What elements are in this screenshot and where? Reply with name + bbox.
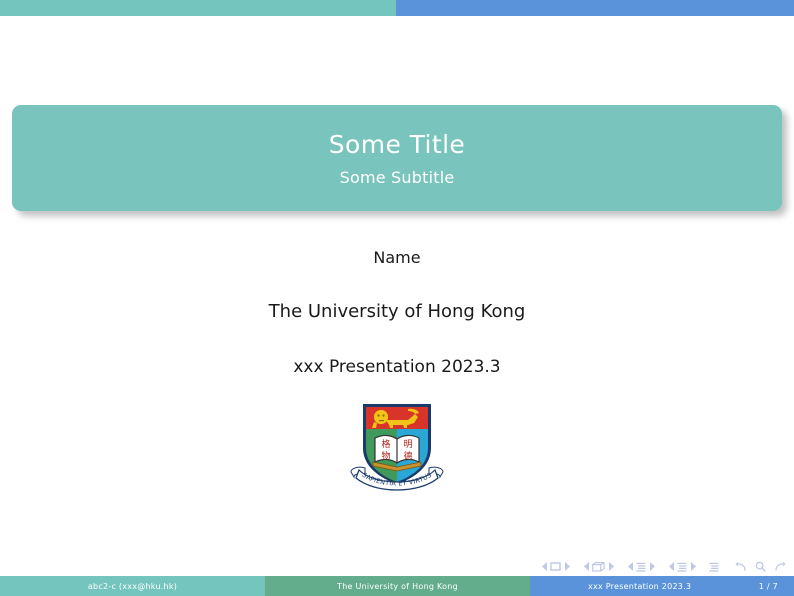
footer-title-text: xxx Presentation 2023.3 [588, 582, 691, 591]
author-block: Name The University of Hong Kong xxx Pre… [0, 248, 794, 377]
section-navigation-icon[interactable] [677, 562, 687, 572]
previous-section-icon[interactable] [669, 562, 675, 571]
next-frame-icon[interactable] [608, 562, 614, 571]
hku-coat-of-arms-icon: 格 明 物 德 SAPIENTIA ET VIRTUS [345, 396, 449, 496]
logo-char-4: 德 [403, 450, 412, 462]
slide-navigation-icon[interactable] [550, 562, 561, 571]
footer-institute-text: The University of Hong Kong [337, 582, 458, 591]
footer-title-segment: xxx Presentation 2023.3 1 / 7 [530, 576, 794, 596]
logo-char-1: 格 [381, 438, 390, 450]
subsection-navigation-group[interactable] [625, 562, 657, 572]
logo-char-2: 明 [403, 439, 412, 450]
next-section-icon[interactable] [690, 562, 696, 571]
frame-navigation-icon[interactable] [592, 562, 605, 572]
logo-char-3: 物 [381, 450, 390, 462]
previous-frame-icon[interactable] [584, 562, 590, 571]
frame-navigation-group[interactable] [581, 562, 616, 572]
next-subsection-icon[interactable] [649, 562, 655, 571]
beamer-navigation-bar[interactable] [539, 561, 786, 572]
author-name: Name [0, 248, 794, 267]
title-block: Some Title Some Subtitle [12, 105, 782, 211]
top-decoration-bar [0, 0, 794, 16]
logo-container: 格 明 物 德 SAPIENTIA ET VIRTUS [0, 396, 794, 496]
page-title: Some Title [329, 129, 465, 160]
top-bar-right-segment [396, 0, 794, 16]
go-forward-icon[interactable] [774, 562, 786, 572]
previous-slide-icon[interactable] [542, 562, 548, 571]
footer-institute-segment: The University of Hong Kong [265, 576, 530, 596]
institute-name: The University of Hong Kong [0, 301, 794, 323]
page-subtitle: Some Subtitle [340, 168, 455, 187]
next-slide-icon[interactable] [564, 562, 570, 571]
top-bar-left-segment [0, 0, 396, 16]
document-navigation-group[interactable] [735, 561, 786, 572]
slide-navigation-group[interactable] [539, 562, 572, 571]
footer-author-text: abc2-c (xxx@hku.hk) [88, 582, 177, 591]
subsection-navigation-icon[interactable] [636, 562, 646, 572]
slide-footer: abc2-c (xxx@hku.hk) The University of Ho… [0, 576, 794, 596]
occasion-text: xxx Presentation 2023.3 [0, 357, 794, 377]
section-navigation-group[interactable] [666, 562, 698, 572]
title-box: Some Title Some Subtitle [12, 105, 782, 211]
search-icon[interactable] [755, 561, 766, 572]
footer-page-number: 1 / 7 [759, 576, 778, 596]
previous-subsection-icon[interactable] [628, 562, 634, 571]
presentation-navigation-icon[interactable] [709, 562, 719, 572]
footer-author-segment: abc2-c (xxx@hku.hk) [0, 576, 265, 596]
go-back-icon[interactable] [735, 562, 747, 572]
